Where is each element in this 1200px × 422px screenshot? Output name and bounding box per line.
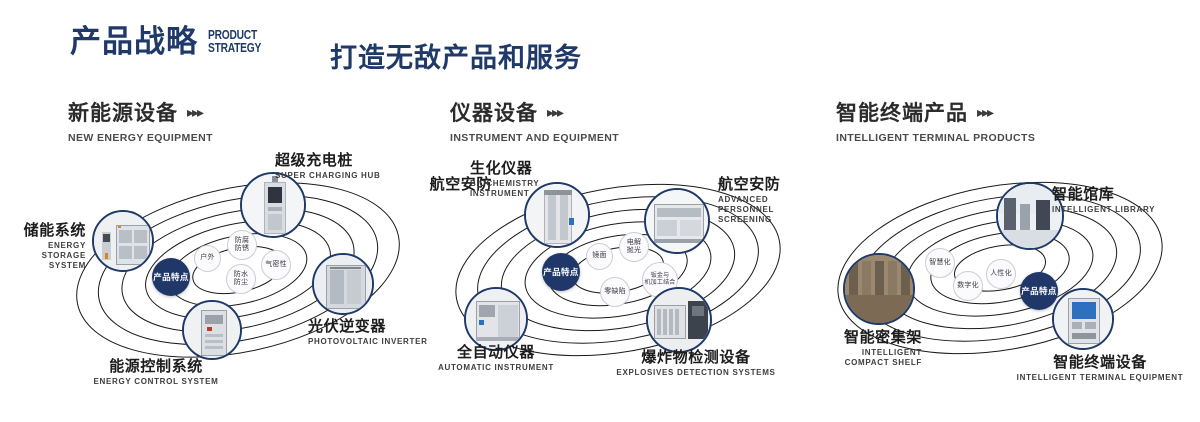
feature-bubble-mirror: 镜面	[586, 243, 613, 270]
node-label-en: BIOCHEMISTRY INSTRUMENT	[470, 179, 570, 199]
node-label-en: SUPER CHARGING HUB	[275, 171, 415, 181]
node-label-cn: 爆炸物检测设备	[610, 349, 782, 366]
node-label-cn: 光伏逆变器	[308, 318, 428, 335]
section-heading-intelligent-terminal: 智能终端产品 ▸▸▸ INTELLIGENT TERMINAL PRODUCTS	[836, 97, 1035, 144]
node-label-cn: 超级充电桩	[275, 152, 415, 169]
node-label-en: INTELLIGENT COMPACT SHELF	[822, 348, 922, 368]
node-label-en: ENERGY CONTROL SYSTEM	[76, 377, 236, 387]
page-title-en-line2: STRATEGY	[208, 42, 261, 55]
core-bubble-label: 产品特点	[543, 267, 579, 277]
feature-bubble-label: 镜面	[592, 252, 606, 260]
node-photo-super-charging-hub[interactable]	[240, 172, 306, 238]
node-photo-photovoltaic-inverter[interactable]	[312, 253, 374, 315]
core-bubble-panel-2: 产品特点	[542, 253, 580, 291]
node-label-en: INTELLIGENT TERMINAL EQUIPMENT	[1005, 373, 1195, 383]
node-photo-compact-shelf[interactable]	[843, 253, 915, 325]
node-label-cn: 智能密集架	[810, 329, 922, 346]
chevron-right-icon: ▸▸▸	[547, 104, 562, 121]
page-title-en-line1: PRODUCT	[208, 29, 261, 42]
feature-bubble-label: 人性化	[990, 270, 1012, 278]
feature-bubble-waterproof: 防水 防尘	[226, 264, 256, 294]
page-title-en: PRODUCT STRATEGY	[208, 29, 261, 55]
node-label-intelligent-terminal-equipment: 智能终端设备 INTELLIGENT TERMINAL EQUIPMENT	[1005, 354, 1195, 383]
node-label-super-charging-hub: 超级充电桩 SUPER CHARGING HUB	[275, 152, 415, 181]
node-label-en: ENERGY STORAGE SYSTEM	[4, 241, 86, 271]
core-bubble-label: 产品特点	[153, 272, 189, 282]
section-heading-new-energy: 新能源设备 ▸▸▸ NEW ENERGY EQUIPMENT	[68, 97, 213, 144]
node-label-cn: 全自动仪器	[420, 344, 572, 361]
feature-bubble-digital: 数字化	[953, 271, 983, 301]
node-label-cn: 储能系统	[4, 222, 86, 239]
product-strategy-infographic: 产品战略 PRODUCT STRATEGY 打造无敌产品和服务 新能源设备 ▸▸…	[0, 0, 1200, 422]
node-photo-screening-machine[interactable]	[644, 188, 710, 254]
node-photo-energy-storage-system[interactable]	[92, 210, 154, 272]
node-label-en: EXPLOSIVES DETECTION SYSTEMS	[610, 368, 782, 378]
node-photo-terminal-kiosk[interactable]	[1052, 288, 1114, 350]
node-label-automatic-instrument: 全自动仪器 AUTOMATIC INSTRUMENT	[420, 344, 572, 373]
core-bubble-panel-3: 产品特点	[1020, 272, 1058, 310]
node-label-energy-control-system: 能源控制系统 ENERGY CONTROL SYSTEM	[76, 358, 236, 387]
page-subtitle: 打造无敌产品和服务	[330, 36, 582, 75]
chevron-right-icon: ▸▸▸	[977, 104, 992, 121]
section-heading-label: 新能源设备	[68, 97, 178, 127]
node-label-photovoltaic-inverter: 光伏逆变器 PHOTOVOLTAIC INVERTER	[308, 318, 428, 347]
feature-bubble-label: 钣金与 机加工结合	[644, 273, 675, 287]
node-label-en: INTELLIGENT LIBRARY	[1052, 205, 1197, 215]
feature-bubble-airtight: 气密性	[261, 250, 291, 280]
feature-bubble-outdoor: 户外	[194, 245, 221, 272]
page-title-cn: 产品战略	[70, 26, 198, 57]
page-title: 产品战略 PRODUCT STRATEGY	[70, 26, 273, 57]
node-label-en: AUTOMATIC INSTRUMENT	[420, 363, 572, 373]
feature-bubble-intelligent: 智慧化	[925, 248, 955, 278]
node-label-cn: 智能馆库	[1052, 186, 1197, 203]
feature-bubble-label: 气密性	[265, 261, 287, 269]
feature-bubble-label: 智慧化	[929, 259, 951, 267]
section-heading-cn: 智能终端产品 ▸▸▸	[836, 97, 1035, 127]
node-photo-automatic-instrument[interactable]	[464, 287, 528, 351]
feature-bubble-label: 电解 抛光	[627, 239, 641, 256]
feature-bubble-zero-defect: 零缺陷	[600, 277, 630, 307]
node-label-intelligent-compact-shelf: 智能密集架 INTELLIGENT COMPACT SHELF	[810, 329, 922, 368]
feature-bubble-label: 防水 防尘	[234, 271, 248, 288]
feature-bubble-label: 防腐 防锈	[235, 237, 249, 254]
section-heading-label: 智能终端产品	[836, 97, 968, 127]
node-label-biochemistry-instrument: 生化仪器 BIOCHEMISTRY INSTRUMENT	[470, 160, 590, 199]
feature-bubble-humanized: 人性化	[986, 259, 1016, 289]
node-photo-explosives-detector[interactable]	[646, 287, 712, 353]
section-heading-instrument: 仪器设备 ▸▸▸ INSTRUMENT AND EQUIPMENT	[450, 97, 619, 144]
node-photo-energy-control-system[interactable]	[182, 300, 242, 360]
section-heading-cn: 仪器设备 ▸▸▸	[450, 97, 619, 127]
core-bubble-panel-1: 产品特点	[152, 258, 190, 296]
node-label-explosives-detection-systems: 爆炸物检测设备 EXPLOSIVES DETECTION SYSTEMS	[610, 349, 782, 378]
chevron-right-icon: ▸▸▸	[187, 104, 202, 121]
node-label-cn: 生化仪器	[470, 160, 590, 177]
section-heading-label: 仪器设备	[450, 97, 538, 127]
feature-bubble-label: 零缺陷	[604, 288, 626, 296]
feature-bubble-label: 户外	[200, 254, 214, 262]
feature-bubble-label: 数字化	[957, 282, 979, 290]
node-label-energy-storage-system: 储能系统 ENERGY STORAGE SYSTEM	[4, 222, 86, 271]
section-heading-cn: 新能源设备 ▸▸▸	[68, 97, 213, 127]
feature-bubble-electropolishing: 电解 抛光	[619, 232, 649, 262]
node-label-intelligent-library: 智能馆库 INTELLIGENT LIBRARY	[1052, 186, 1197, 215]
section-heading-en: INTELLIGENT TERMINAL PRODUCTS	[836, 132, 1035, 144]
node-label-cn: 智能终端设备	[1005, 354, 1195, 371]
node-label-en: PHOTOVOLTAIC INVERTER	[308, 337, 428, 347]
node-label-en: ADVANCED PERSONNEL SCREENING	[718, 195, 818, 225]
core-bubble-label: 产品特点	[1021, 286, 1057, 296]
section-heading-en: NEW ENERGY EQUIPMENT	[68, 132, 213, 144]
section-heading-en: INSTRUMENT AND EQUIPMENT	[450, 132, 619, 144]
node-label-cn: 能源控制系统	[76, 358, 236, 375]
